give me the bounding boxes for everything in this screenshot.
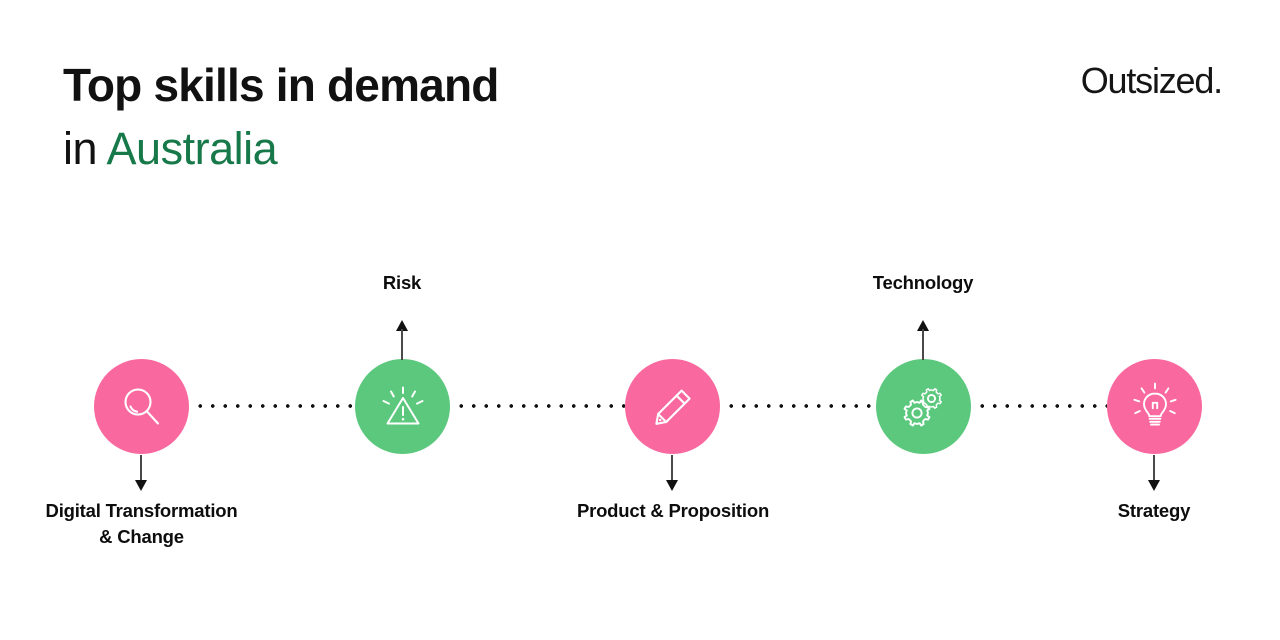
arrow-down-product-proposition — [665, 455, 679, 491]
timeline-label-digital-transformation: Digital Transformation & Change — [0, 498, 283, 551]
warning-triangle-icon — [377, 381, 429, 433]
timeline-label-technology: Technology — [833, 270, 1013, 296]
arrow-down-strategy — [1147, 455, 1161, 491]
timeline-label-risk: Risk — [312, 270, 492, 296]
dotted-connector-3 — [725, 404, 876, 408]
dotted-connector-2 — [455, 404, 625, 408]
pencil-icon — [648, 382, 698, 432]
arrow-up-technology — [916, 320, 930, 360]
timeline-node-strategy[interactable] — [1107, 359, 1202, 454]
magnifier-icon — [117, 382, 167, 432]
lightbulb-icon — [1128, 380, 1182, 434]
dotted-connector-1 — [194, 404, 355, 408]
timeline-node-digital-transformation[interactable] — [94, 359, 189, 454]
gears-icon — [897, 380, 951, 434]
arrow-down-digital-transformation — [134, 455, 148, 491]
timeline-node-risk[interactable] — [355, 359, 450, 454]
arrow-up-risk — [395, 320, 409, 360]
timeline-label-strategy: Strategy — [1064, 498, 1244, 524]
dotted-connector-4 — [976, 404, 1107, 408]
timeline-node-technology[interactable] — [876, 359, 971, 454]
timeline-label-product-proposition: Product & Proposition — [528, 498, 818, 524]
skills-timeline: Digital Transformation & Change Risk — [0, 0, 1280, 640]
timeline-node-product-proposition[interactable] — [625, 359, 720, 454]
